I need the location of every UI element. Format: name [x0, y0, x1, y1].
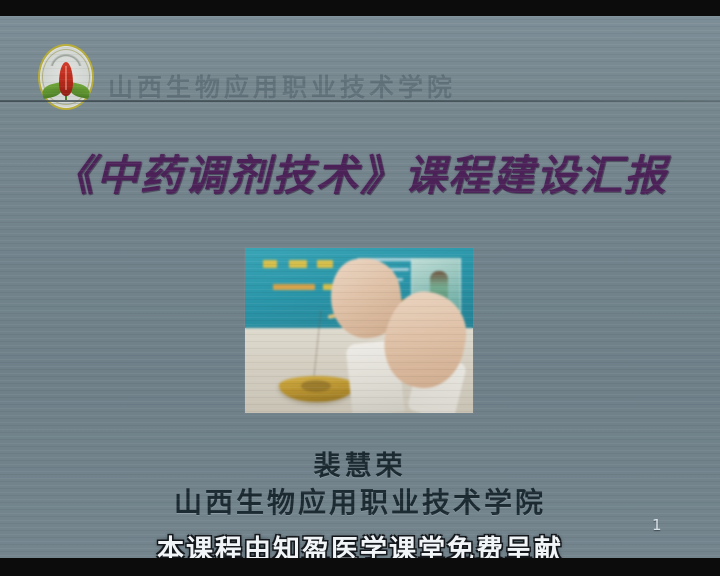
page-title: 《中药调剂技术》课程建设汇报	[0, 142, 720, 203]
slide-canvas: 山西生物应用职业技术学院 《中药调剂技术》课程建设汇报	[0, 16, 720, 558]
photo-softening-overlay	[245, 248, 473, 413]
letterbox-bottom	[0, 558, 720, 576]
slide-header: 山西生物应用职业技术学院	[0, 16, 720, 102]
course-photo	[245, 248, 473, 413]
header-divider	[0, 100, 720, 102]
header-divider-highlight	[0, 103, 720, 104]
institution-banner-text: 山西生物应用职业技术学院	[108, 68, 456, 104]
video-slide-frame: 山西生物应用职业技术学院 《中药调剂技术》课程建设汇报	[0, 0, 720, 576]
letterbox-top	[0, 0, 720, 16]
seal-flower-bud	[59, 62, 73, 96]
presenter-organization: 山西生物应用职业技术学院	[0, 481, 720, 521]
presenter-name: 裴慧荣	[0, 444, 720, 483]
